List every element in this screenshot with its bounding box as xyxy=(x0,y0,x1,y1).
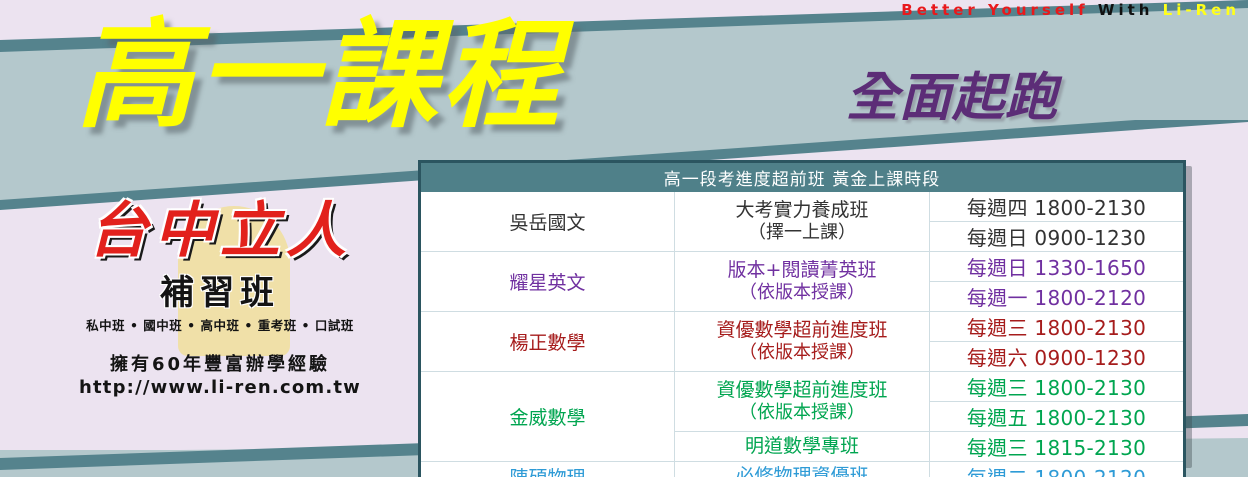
time-cell: 每週三 1815-2130 xyxy=(930,432,1185,462)
teacher-cell: 楊正數學 xyxy=(420,312,675,372)
course-cell: 資優數學超前進度班（依版本授課） xyxy=(675,312,930,372)
time-cell: 每週一 1800-2120 xyxy=(930,282,1185,312)
table-row: 楊正數學資優數學超前進度班（依版本授課）每週三 1800-2130 xyxy=(420,312,1185,342)
teacher-cell: 陳碩物理 xyxy=(420,462,675,477)
schedule-table-title: 高一段考進度超前班 黃金上課時段 xyxy=(420,162,1185,192)
time-cell: 每週四 1800-2130 xyxy=(930,192,1185,222)
time-cell: 每週五 1800-2130 xyxy=(930,402,1185,432)
logo-sub-text: 補習班 xyxy=(30,265,410,314)
course-cell: 明道數學專班 xyxy=(675,432,930,462)
teacher-cell: 耀星英文 xyxy=(420,252,675,312)
time-cell: 每週日 1330-1650 xyxy=(930,252,1185,282)
teacher-cell: 吳岳國文 xyxy=(420,192,675,252)
tagline-part-li-ren: Li-Ren xyxy=(1163,1,1240,19)
course-cell: 必修物理資優班 xyxy=(675,462,930,477)
poster-root: Better Yourself With Li-Ren 高一課程 全面起跑 台中… xyxy=(0,0,1248,477)
time-cell: 每週六 0900-1230 xyxy=(930,342,1185,372)
schedule-table-body: 吳岳國文大考實力養成班（擇一上課）每週四 1800-2130每週日 0900-1… xyxy=(420,192,1185,477)
table-row: 耀星英文版本+閱讀菁英班（依版本授課）每週日 1330-1650 xyxy=(420,252,1185,282)
time-cell: 每週二 1800-2120 xyxy=(930,462,1185,477)
tagline-part-better-yourself: Better Yourself xyxy=(901,1,1098,19)
course-cell: 資優數學超前進度班（依版本授課） xyxy=(675,372,930,432)
course-cell: 版本+閱讀菁英班（依版本授課） xyxy=(675,252,930,312)
course-cell: 大考實力養成班（擇一上課） xyxy=(675,192,930,252)
table-row: 金威數學資優數學超前進度班（依版本授課）每週三 1800-2130 xyxy=(420,372,1185,402)
page-title: 高一課程 xyxy=(76,16,564,134)
schedule-table: 高一段考進度超前班 黃金上課時段 吳岳國文大考實力養成班（擇一上課）每週四 18… xyxy=(418,160,1186,477)
teacher-cell: 金威數學 xyxy=(420,372,675,462)
logo-experience-text: 擁有60年豐富辦學經驗 xyxy=(30,350,410,376)
logo: 台中立人 補習班 私中班 • 國中班 • 高中班 • 重考班 • 口試班 擁有6… xyxy=(30,200,410,398)
logo-class-list: 私中班 • 國中班 • 高中班 • 重考班 • 口試班 xyxy=(30,315,410,334)
logo-main-text: 台中立人 xyxy=(30,200,410,263)
table-row: 吳岳國文大考實力養成班（擇一上課）每週四 1800-2130 xyxy=(420,192,1185,222)
tagline-part-with: With xyxy=(1098,1,1163,19)
table-header-row: 高一段考進度超前班 黃金上課時段 xyxy=(420,162,1185,192)
schedule-table-head: 高一段考進度超前班 黃金上課時段 xyxy=(420,162,1185,192)
time-cell: 每週三 1800-2130 xyxy=(930,372,1185,402)
time-cell: 每週日 0900-1230 xyxy=(930,222,1185,252)
page-subtitle: 全面起跑 xyxy=(846,72,1058,124)
table-row: 陳碩物理必修物理資優班每週二 1800-2120 xyxy=(420,462,1185,477)
logo-website-url: http://www.li-ren.com.tw xyxy=(30,377,410,398)
time-cell: 每週三 1800-2130 xyxy=(930,312,1185,342)
